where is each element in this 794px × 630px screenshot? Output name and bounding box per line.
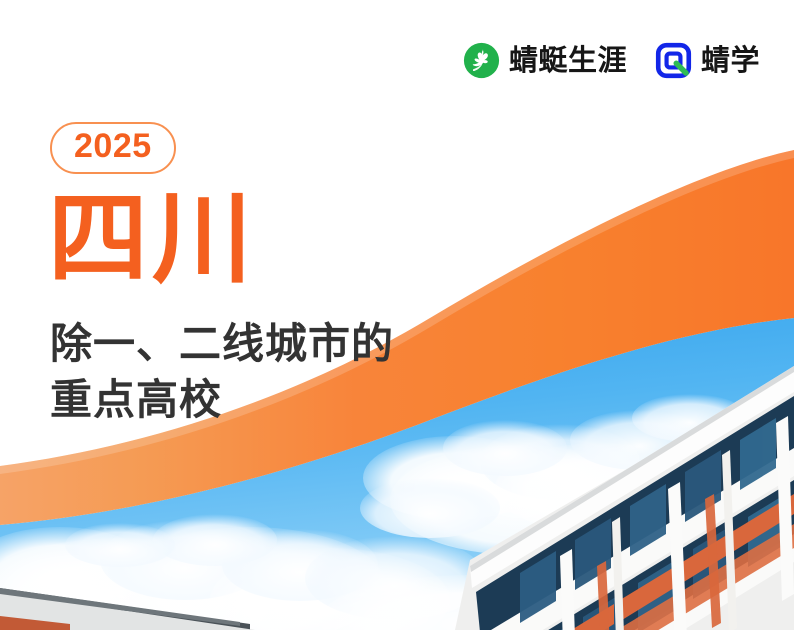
hero-artwork — [0, 0, 794, 630]
subtitle-line-2: 重点高校 — [50, 372, 394, 428]
logo-qingxue[interactable]: 蜻学 — [655, 42, 760, 79]
page-title-province: 四川 — [48, 186, 256, 291]
page-subtitle: 除一、二线城市的 重点高校 — [50, 316, 394, 428]
q-square-icon — [655, 42, 692, 79]
logo-label-qingting-shengya: 蜻蜓生涯 — [509, 46, 627, 75]
year-badge: 2025 — [50, 122, 176, 174]
brand-logo-bar: 蜻蜓生涯 蜻学 — [463, 42, 760, 79]
dragonfly-leaf-icon — [463, 42, 500, 79]
logo-label-qingxue: 蜻学 — [701, 46, 760, 75]
poster-root: 蜻蜓生涯 蜻学 2025 四川 除一、二线城市的 重点高校 — [0, 0, 794, 630]
logo-qingting-shengya[interactable]: 蜻蜓生涯 — [463, 42, 627, 79]
year-badge-label: 2025 — [74, 129, 152, 165]
subtitle-line-1: 除一、二线城市的 — [50, 316, 394, 372]
